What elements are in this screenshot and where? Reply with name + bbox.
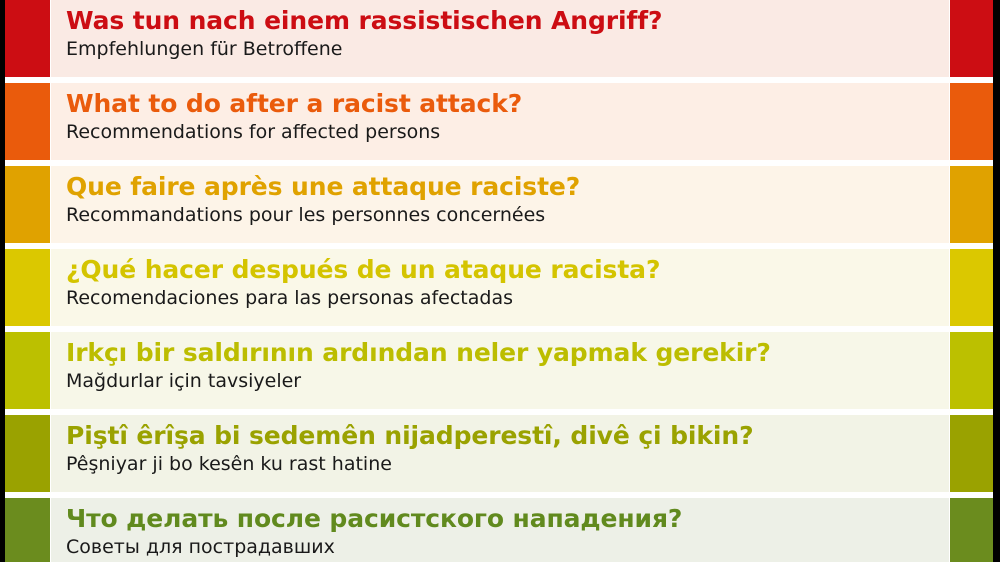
row-accent-swatch-right xyxy=(950,166,993,243)
row-title: Что делать после расистского нападения? xyxy=(66,504,949,534)
row-text-panel: Que faire après une attaque raciste?Reco… xyxy=(51,166,949,243)
row-accent-swatch-left xyxy=(5,0,50,77)
poster-canvas: Was tun nach einem rassistischen Angriff… xyxy=(0,0,1000,562)
row-subtitle: Pêşniyar ji bo kesên ku rast hatine xyxy=(66,451,949,477)
language-row-list: Was tun nach einem rassistischen Angriff… xyxy=(0,0,1000,562)
row-text-panel: What to do after a racist attack?Recomme… xyxy=(51,83,949,160)
row-accent-swatch-right xyxy=(950,332,993,409)
row-text-panel: Was tun nach einem rassistischen Angriff… xyxy=(51,0,949,77)
left-bleed-strip xyxy=(0,0,5,562)
row-subtitle: Recommandations pour les personnes conce… xyxy=(66,202,949,228)
row-text-panel: Piştî êrîşa bi sedemên nijadperestî, div… xyxy=(51,415,949,492)
row-accent-swatch-left xyxy=(5,332,50,409)
language-row: What to do after a racist attack?Recomme… xyxy=(0,83,1000,160)
row-title: ¿Qué hacer después de un ataque racista? xyxy=(66,255,949,285)
row-accent-swatch-right xyxy=(950,415,993,492)
row-accent-swatch-left xyxy=(5,249,50,326)
row-accent-swatch-left xyxy=(5,83,50,160)
row-text-panel: Что делать после расистского нападения?С… xyxy=(51,498,949,562)
row-accent-swatch-left xyxy=(5,415,50,492)
row-subtitle: Recomendaciones para las personas afecta… xyxy=(66,285,949,311)
row-accent-swatch-left xyxy=(5,498,50,562)
row-title: What to do after a racist attack? xyxy=(66,89,949,119)
row-title: Irkçı bir saldırının ardından neler yapm… xyxy=(66,338,949,368)
row-subtitle: Empfehlungen für Betroffene xyxy=(66,36,949,62)
row-text-panel: Irkçı bir saldırının ardından neler yapm… xyxy=(51,332,949,409)
language-row: Irkçı bir saldırının ardından neler yapm… xyxy=(0,332,1000,409)
row-accent-swatch-right xyxy=(950,83,993,160)
language-row: Was tun nach einem rassistischen Angriff… xyxy=(0,0,1000,77)
row-title: Piştî êrîşa bi sedemên nijadperestî, div… xyxy=(66,421,949,451)
row-text-panel: ¿Qué hacer después de un ataque racista?… xyxy=(51,249,949,326)
row-accent-swatch-right xyxy=(950,0,993,77)
row-title: Que faire après une attaque raciste? xyxy=(66,172,949,202)
language-row: Que faire après une attaque raciste?Reco… xyxy=(0,166,1000,243)
row-title: Was tun nach einem rassistischen Angriff… xyxy=(66,6,949,36)
language-row: ¿Qué hacer después de un ataque racista?… xyxy=(0,249,1000,326)
row-subtitle: Советы для пострадавших xyxy=(66,534,949,560)
language-row: Piştî êrîşa bi sedemên nijadperestî, div… xyxy=(0,415,1000,492)
right-bleed-strip xyxy=(993,0,1000,562)
row-accent-swatch-right xyxy=(950,498,993,562)
row-accent-swatch-right xyxy=(950,249,993,326)
row-subtitle: Recommendations for affected persons xyxy=(66,119,949,145)
row-subtitle: Mağdurlar için tavsiyeler xyxy=(66,368,949,394)
row-accent-swatch-left xyxy=(5,166,50,243)
language-row: Что делать после расистского нападения?С… xyxy=(0,498,1000,562)
